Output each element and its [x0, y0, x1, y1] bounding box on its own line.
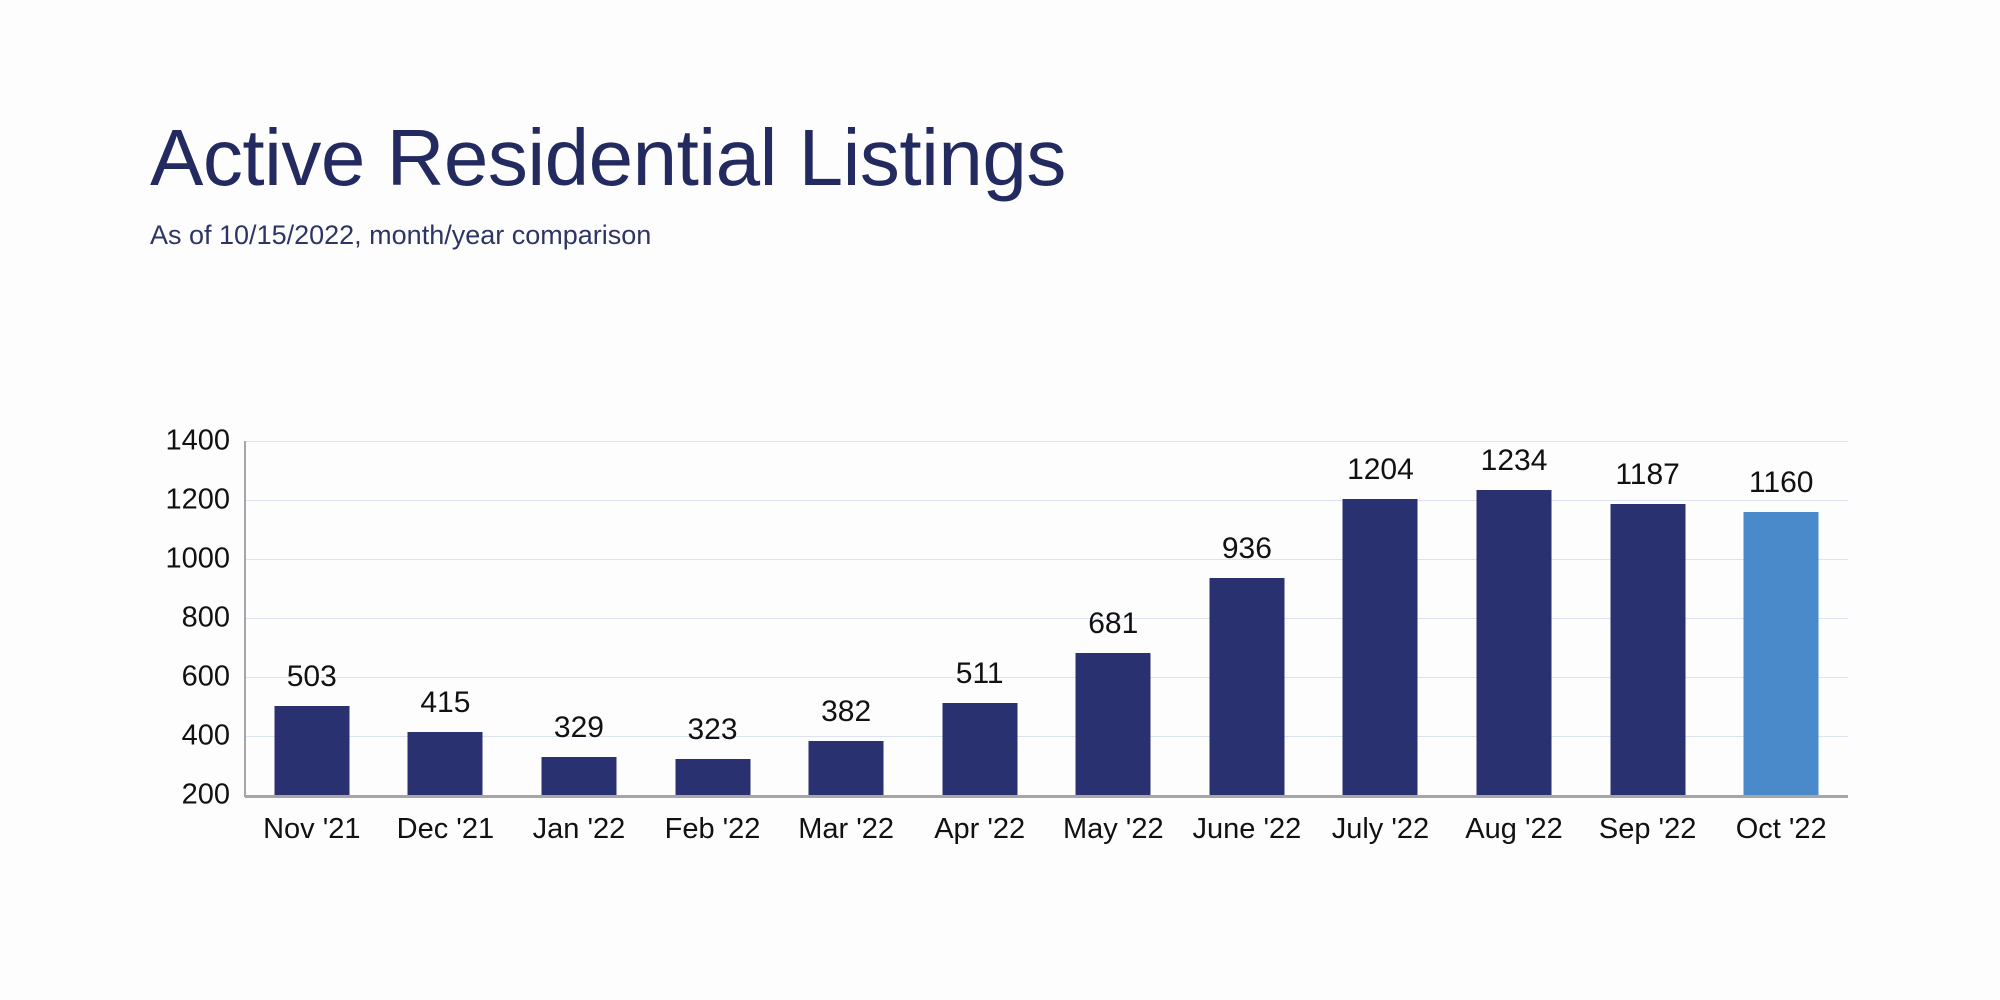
bar-slot: 1187: [1581, 441, 1715, 795]
bar-value-label: 1204: [1347, 455, 1414, 485]
y-tick-label: 800: [120, 602, 230, 635]
bar-slot: 323: [646, 441, 780, 795]
bar-value-label: 1160: [1749, 468, 1814, 498]
y-axis-tick-labels: 200400600800100012001400: [110, 441, 230, 795]
x-axis-line: [245, 795, 1848, 798]
plot-area: 5034153293233825116819361204123411871160: [245, 441, 1848, 795]
bar-value-label: 1187: [1615, 460, 1680, 490]
bar-slot: 681: [1047, 441, 1181, 795]
bar-value-label: 415: [420, 688, 470, 718]
bar-slot: 1204: [1314, 441, 1448, 795]
bar[interactable]: [541, 757, 616, 795]
bar-slot: 382: [779, 441, 913, 795]
bar-slot: 1160: [1714, 441, 1848, 795]
bar-slot: 329: [512, 441, 646, 795]
bar-value-label: 511: [956, 659, 1004, 689]
bar-value-label: 382: [821, 697, 871, 727]
bar-chart: 5034153293233825116819361204123411871160…: [0, 0, 2000, 1000]
y-tick-label: 1000: [120, 543, 230, 576]
bar-value-label: 329: [554, 713, 604, 743]
y-tick-label: 1400: [120, 425, 230, 458]
bar[interactable]: [942, 703, 1017, 795]
bar[interactable]: [1343, 499, 1418, 795]
bar[interactable]: [1209, 578, 1284, 795]
bar-slot: 415: [379, 441, 513, 795]
y-tick-label: 600: [120, 661, 230, 694]
bar-slot: 1234: [1447, 441, 1581, 795]
x-tick-label: Oct '22: [1691, 813, 1871, 846]
y-axis-line: [244, 441, 246, 797]
bar-value-label: 503: [287, 662, 337, 692]
bar-value-label: 681: [1088, 609, 1138, 639]
bar[interactable]: [809, 741, 884, 795]
bar-value-label: 1234: [1481, 446, 1548, 476]
y-tick-label: 200: [120, 779, 230, 812]
bar-slot: 511: [913, 441, 1047, 795]
bar-slot: 503: [245, 441, 379, 795]
bar-value-label: 936: [1222, 534, 1272, 564]
bar[interactable]: [1076, 653, 1151, 795]
bar-value-label: 323: [688, 715, 738, 745]
bar[interactable]: [1744, 512, 1819, 795]
y-tick-label: 1200: [120, 484, 230, 517]
chart-page: Active Residential Listings As of 10/15/…: [0, 0, 2000, 1000]
bar[interactable]: [408, 732, 483, 795]
bar[interactable]: [274, 706, 349, 795]
bar-slot: 936: [1180, 441, 1314, 795]
y-tick-label: 400: [120, 720, 230, 753]
bar[interactable]: [1477, 490, 1552, 795]
bar[interactable]: [675, 759, 750, 795]
bar[interactable]: [1610, 504, 1685, 795]
